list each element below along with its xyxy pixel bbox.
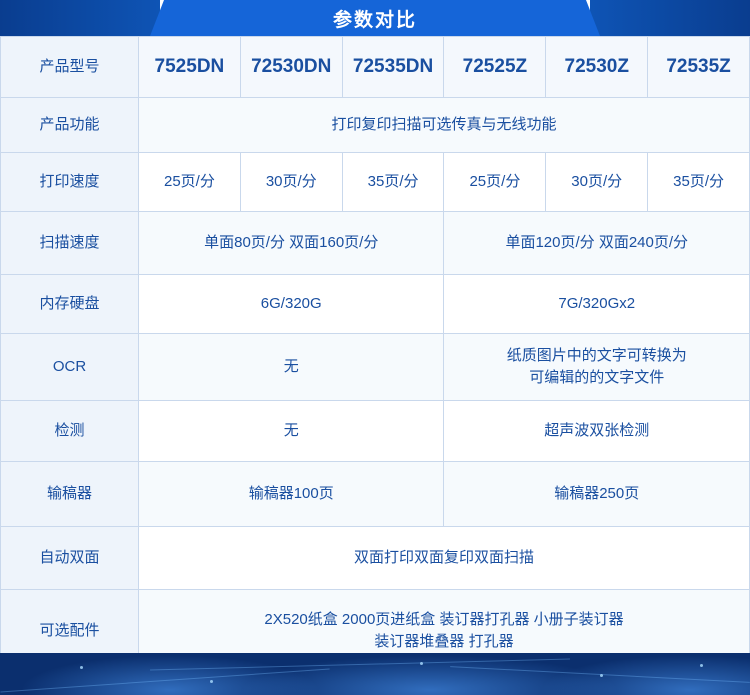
table-cell: 35页/分	[648, 153, 750, 212]
header-left-bar	[0, 0, 160, 36]
deco-dot	[700, 664, 703, 667]
page-title: 参数对比	[333, 5, 417, 32]
table-cell: 无	[139, 401, 444, 462]
table-cell: 无	[139, 334, 444, 401]
table-row: 检测无超声波双张检测	[1, 401, 750, 462]
model-cell-4: 72530Z	[546, 37, 648, 98]
table-cell: 25页/分	[444, 153, 546, 212]
table-row: 扫描速度单面80页/分 双面160页/分单面120页/分 双面240页/分	[1, 212, 750, 275]
row-label: 打印速度	[1, 153, 139, 212]
row-label: 输稿器	[1, 462, 139, 527]
table-cell: 输稿器100页	[139, 462, 444, 527]
model-cell-3: 72525Z	[444, 37, 546, 98]
table-cell: 7G/320Gx2	[444, 275, 750, 334]
table-row: 产品功能打印复印扫描可选传真与无线功能	[1, 98, 750, 153]
table-row: 输稿器输稿器100页输稿器250页	[1, 462, 750, 527]
table-cell: 30页/分	[240, 153, 342, 212]
table-cell: 打印复印扫描可选传真与无线功能	[139, 98, 750, 153]
table-cell: 纸质图片中的文字可转换为 可编辑的的文字文件	[444, 334, 750, 401]
model-cell-5: 72535Z	[648, 37, 750, 98]
table-cell: 单面80页/分 双面160页/分	[139, 212, 444, 275]
table-cell: 6G/320G	[139, 275, 444, 334]
table-cell: 双面打印双面复印双面扫描	[139, 527, 750, 590]
spec-table-body: 产品型号 7525DN 72530DN 72535DN 72525Z 72530…	[1, 37, 750, 673]
table-cell: 35页/分	[342, 153, 444, 212]
header-banner: 参数对比	[0, 0, 750, 36]
table-cell: 输稿器250页	[444, 462, 750, 527]
table-cell: 超声波双张检测	[444, 401, 750, 462]
spec-table: 产品型号 7525DN 72530DN 72535DN 72525Z 72530…	[0, 36, 750, 673]
table-row: 内存硬盘6G/320G7G/320Gx2	[1, 275, 750, 334]
glow-right	[540, 655, 750, 695]
table-row: OCR无纸质图片中的文字可转换为 可编辑的的文字文件	[1, 334, 750, 401]
deco-dot	[80, 666, 83, 669]
table-row: 自动双面双面打印双面复印双面扫描	[1, 527, 750, 590]
table-row-models: 产品型号 7525DN 72530DN 72535DN 72525Z 72530…	[1, 37, 750, 98]
deco-dot	[420, 662, 423, 665]
row-label: 自动双面	[1, 527, 139, 590]
deco-dot	[600, 674, 603, 677]
bottom-decoration	[0, 653, 750, 695]
model-cell-2: 72535DN	[342, 37, 444, 98]
row-label-model: 产品型号	[1, 37, 139, 98]
table-cell: 单面120页/分 双面240页/分	[444, 212, 750, 275]
row-label: 产品功能	[1, 98, 139, 153]
table-cell: 25页/分	[139, 153, 241, 212]
header-right-bar	[590, 0, 750, 36]
spec-comparison-page: 参数对比 产品型号 7525DN 72530DN 72535DN 72525Z …	[0, 0, 750, 695]
model-cell-1: 72530DN	[240, 37, 342, 98]
row-label: 检测	[1, 401, 139, 462]
row-label: 内存硬盘	[1, 275, 139, 334]
row-label: OCR	[1, 334, 139, 401]
model-cell-0: 7525DN	[139, 37, 241, 98]
table-cell: 30页/分	[546, 153, 648, 212]
row-label: 扫描速度	[1, 212, 139, 275]
deco-dot	[210, 680, 213, 683]
table-row: 打印速度25页/分30页/分35页/分25页/分30页/分35页/分	[1, 153, 750, 212]
header-center-ribbon: 参数对比	[150, 0, 600, 36]
